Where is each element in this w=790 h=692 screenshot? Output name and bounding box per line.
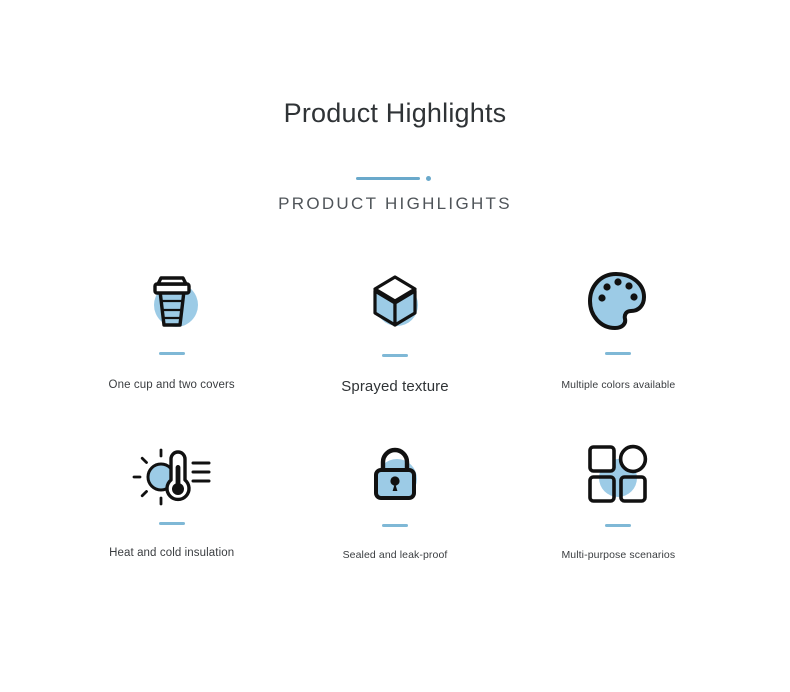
page-title: Product Highlights <box>0 96 790 130</box>
four-panel-grid-icon <box>507 440 730 510</box>
feature-item-one-cup-two-covers: One cup and two covers <box>60 262 283 440</box>
title-divider <box>0 174 790 184</box>
feature-label: Multi-purpose scenarios <box>507 547 730 563</box>
3d-box-icon <box>283 262 506 340</box>
feature-item-sprayed-texture: Sprayed texture <box>283 262 506 440</box>
page-subtitle: PRODUCT HIGHLIGHTS <box>0 194 790 214</box>
thermometer-sun-icon <box>60 440 283 510</box>
accent-dash <box>605 524 631 527</box>
feature-item-sealed-leak-proof: Sealed and leak-proof <box>283 440 506 618</box>
feature-item-heat-cold-insulation: Heat and cold insulation <box>60 440 283 618</box>
accent-dash <box>382 524 408 527</box>
product-highlights-page: Product Highlights PRODUCT HIGHLIGHTS <box>0 0 790 692</box>
divider-line <box>356 177 420 180</box>
divider-dot <box>426 176 431 181</box>
accent-dash <box>159 522 185 525</box>
coffee-cup-icon <box>60 262 283 340</box>
feature-label: Heat and cold insulation <box>60 545 283 561</box>
paint-palette-icon <box>507 262 730 340</box>
accent-dash <box>605 352 631 355</box>
feature-grid: One cup and two covers Sprayed texture <box>60 262 730 618</box>
feature-item-multiple-colors: Multiple colors available <box>507 262 730 440</box>
feature-item-multi-purpose-scenarios: Multi-purpose scenarios <box>507 440 730 618</box>
accent-dash <box>382 354 408 357</box>
header: Product Highlights <box>0 96 790 130</box>
padlock-icon <box>283 440 506 510</box>
feature-label: Sprayed texture <box>283 379 506 395</box>
feature-label: One cup and two covers <box>60 377 283 393</box>
feature-label: Multiple colors available <box>507 377 730 393</box>
feature-label: Sealed and leak-proof <box>283 547 506 563</box>
accent-dash <box>159 352 185 355</box>
